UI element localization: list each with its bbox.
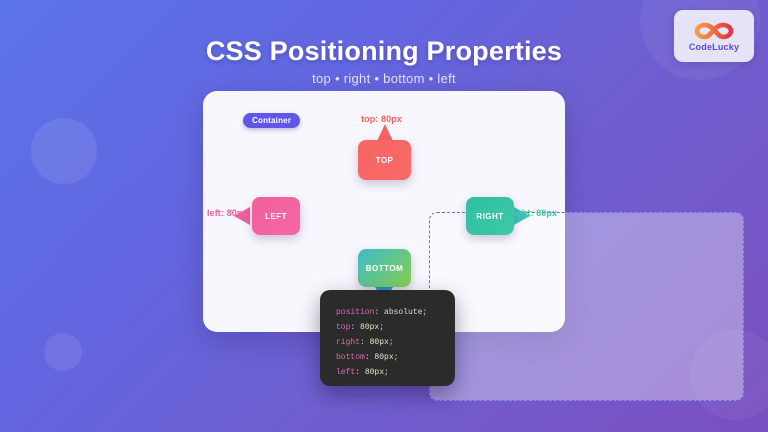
box-left: LEFT (252, 197, 300, 235)
slide-canvas: CodeLucky CSS Positioning Properties top… (0, 0, 768, 432)
code-line: top: 80px; (336, 320, 455, 335)
code-line: right: 80px; (336, 335, 455, 350)
container-badge: Container (243, 113, 300, 128)
code-value: 80px (370, 338, 389, 347)
decorative-circle-small (44, 333, 82, 371)
measure-label-top: top: 80px (361, 114, 402, 124)
code-semicolon: ; (422, 308, 427, 317)
measure-label-left: left: 80px (207, 208, 248, 218)
code-colon: : (360, 338, 370, 347)
page-title: CSS Positioning Properties (0, 36, 768, 67)
code-line: bottom: 80px; (336, 350, 455, 365)
code-colon: : (355, 368, 365, 377)
code-value: 80px (374, 353, 393, 362)
code-semicolon: ; (379, 323, 384, 332)
code-value: 80px (360, 323, 379, 332)
arrow-up-icon (377, 124, 393, 141)
container-outline (429, 212, 744, 401)
code-colon: : (350, 323, 360, 332)
code-property: bottom (336, 353, 365, 362)
code-value: 80px (365, 368, 384, 377)
measure-label-right: right: 80px (510, 208, 557, 218)
code-value: absolute (384, 308, 422, 317)
code-line: position: absolute; (336, 305, 455, 320)
code-property: top (336, 323, 350, 332)
code-colon: : (365, 353, 375, 362)
decorative-circle-large (31, 118, 97, 184)
code-property: left (336, 368, 355, 377)
code-semicolon: ; (394, 353, 399, 362)
box-right: RIGHT (466, 197, 514, 235)
page-subtitle: top • right • bottom • left (0, 71, 768, 86)
box-bottom: BOTTOM (358, 249, 411, 287)
code-snippet: position: absolute;top: 80px;right: 80px… (320, 290, 455, 386)
code-colon: : (374, 308, 384, 317)
box-top: TOP (358, 140, 411, 180)
code-property: position (336, 308, 374, 317)
code-semicolon: ; (384, 368, 389, 377)
code-semicolon: ; (389, 338, 394, 347)
code-property: right (336, 338, 360, 347)
code-line: left: 80px; (336, 365, 455, 380)
